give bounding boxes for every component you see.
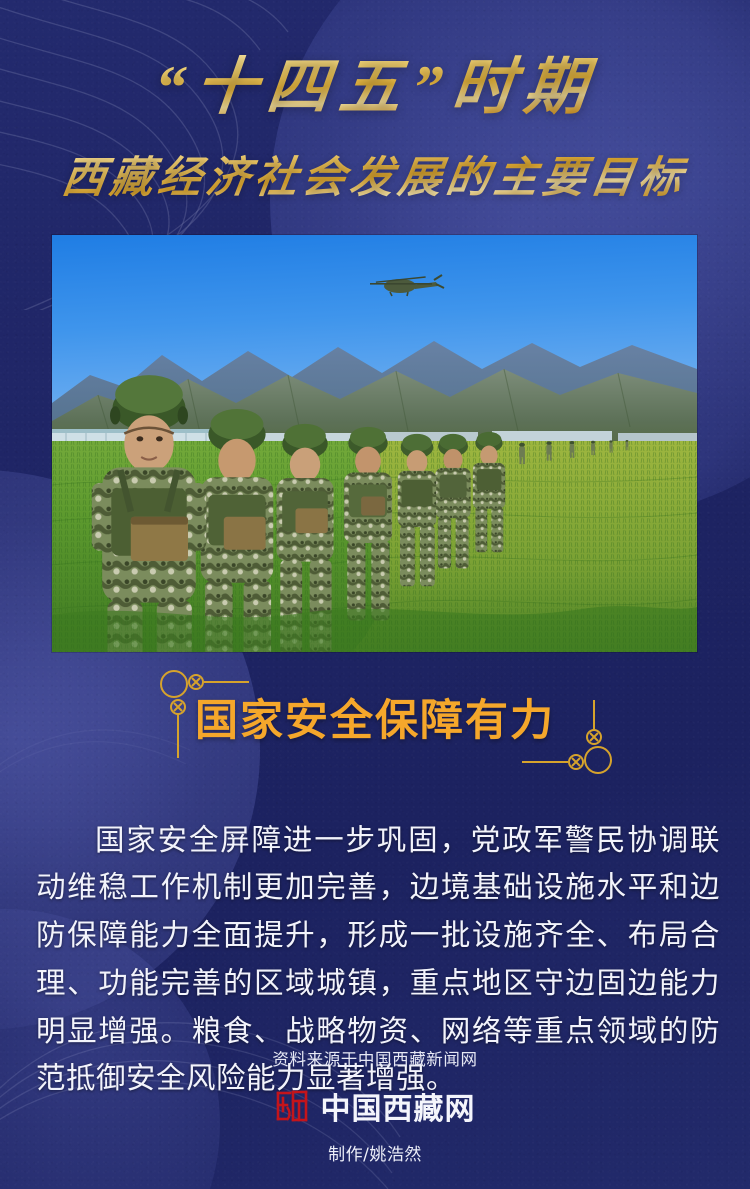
source-credit: 资料来源于中国西藏新闻网 [0,1046,750,1070]
section-heading-band: 国家安全保障有力 [0,662,750,782]
hero-photo [52,235,697,652]
soldiers-marching-photo [52,235,697,652]
footer: 资料来源于中国西藏新闻网 中国西藏网 [0,1046,750,1165]
brand-name: 中国西藏网 [321,1084,476,1128]
title-block: “十四五”时期 西藏经济社会发展的主要目标 [0,52,750,205]
poster-root: “十四五”时期 西藏经济社会发展的主要目标 [0,0,750,1189]
producer-credit: 制作/姚浩然 [0,1140,750,1165]
brand-row: 中国西藏网 [0,1084,750,1128]
page-title: “十四五”时期 [0,52,750,125]
page-subtitle: 西藏经济社会发展的主要目标 [0,143,750,205]
china-tibet-net-seal-icon [275,1089,309,1123]
section-heading: 国家安全保障有力 [0,686,750,748]
